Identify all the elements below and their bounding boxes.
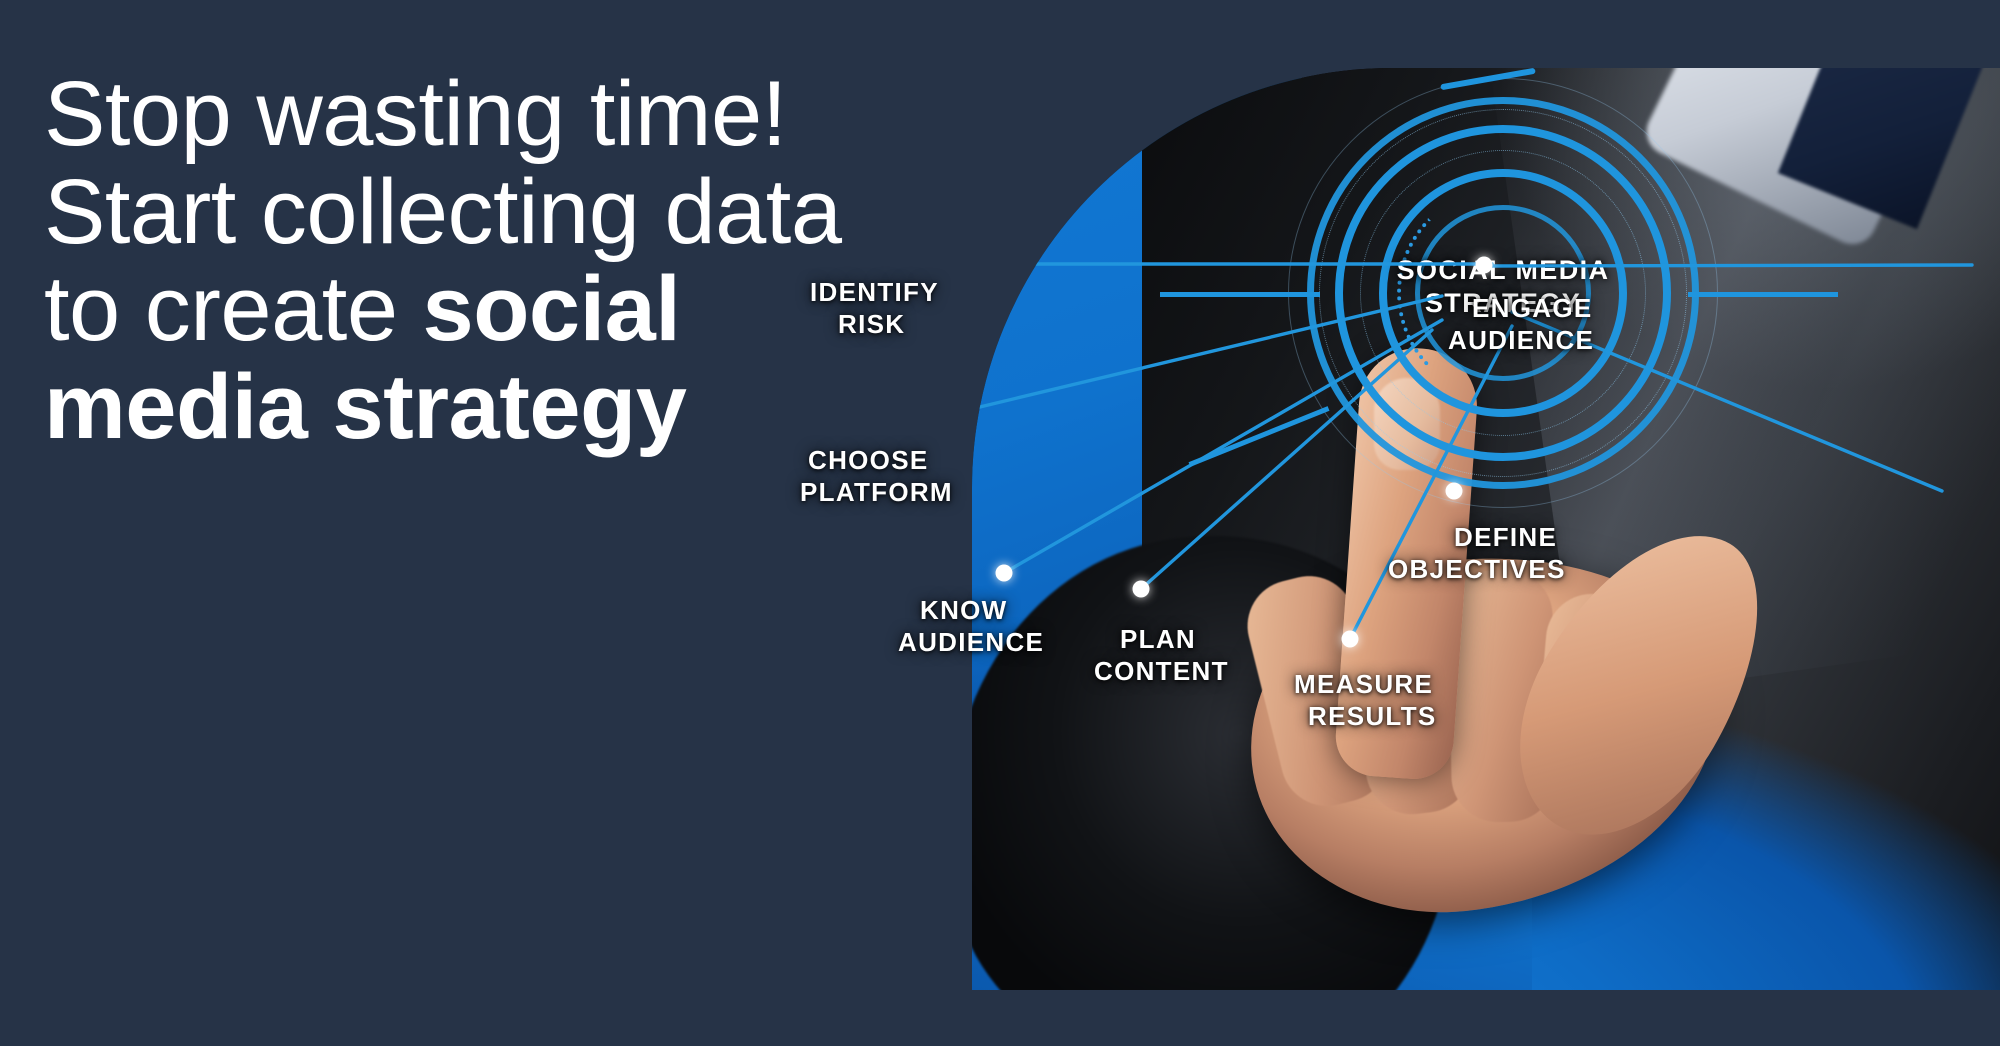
headline-line-3-bold: social	[423, 258, 681, 360]
label-know-audience-line-2: AUDIENCE	[898, 626, 1044, 658]
label-choose-platform-line-2: PLATFORM	[800, 476, 953, 508]
label-engage-audience-line-1: ENGAGE	[1448, 292, 1594, 324]
label-choose-platform: CHOOSE PLATFORM	[800, 444, 953, 508]
node-measure-results[interactable]	[1342, 631, 1359, 648]
label-identify-risk: IDENTIFY RISK	[810, 276, 939, 340]
label-define-objectives-line-1: DEFINE	[1388, 521, 1566, 553]
headline-line-3: to create social	[44, 261, 944, 359]
label-plan-content-line-2: CONTENT	[1094, 655, 1229, 687]
label-engage-audience-line-2: AUDIENCE	[1448, 324, 1594, 356]
label-know-audience-line-1: KNOW	[898, 594, 1044, 626]
label-measure-results-line-1: MEASURE	[1294, 668, 1437, 700]
label-define-objectives-line-2: OBJECTIVES	[1388, 553, 1566, 585]
headline-line-1: Stop wasting time!	[44, 66, 944, 164]
label-measure-results: MEASURE RESULTS	[1294, 668, 1437, 732]
headline-line-2: Start collecting data	[44, 164, 944, 262]
label-identify-risk-line-2: RISK	[810, 308, 939, 340]
label-choose-platform-line-1: CHOOSE	[800, 444, 953, 476]
page-title: Stop wasting time! Start collecting data…	[44, 66, 944, 456]
label-engage-audience: ENGAGE AUDIENCE	[1448, 292, 1594, 356]
connector-engage-audience	[1484, 265, 1972, 266]
label-know-audience: KNOW AUDIENCE	[898, 594, 1044, 658]
headline-line-3-normal: to create	[44, 258, 423, 360]
label-plan-content-line-1: PLAN	[1094, 623, 1229, 655]
node-plan-content[interactable]	[1133, 581, 1150, 598]
label-measure-results-line-2: RESULTS	[1294, 700, 1437, 732]
label-define-objectives: DEFINE OBJECTIVES	[1388, 521, 1566, 585]
connector-measure-results	[1350, 326, 1512, 639]
connector-know-audience	[1004, 320, 1442, 573]
node-define-objectives[interactable]	[1446, 483, 1463, 500]
node-engage-audience[interactable]	[1476, 257, 1493, 274]
node-know-audience[interactable]	[996, 565, 1013, 582]
promo-banner: Stop wasting time! Start collecting data…	[0, 0, 2000, 1046]
headline-line-4: media strategy	[44, 359, 944, 457]
label-identify-risk-line-1: IDENTIFY	[810, 276, 939, 308]
label-plan-content: PLAN CONTENT	[1094, 623, 1229, 687]
